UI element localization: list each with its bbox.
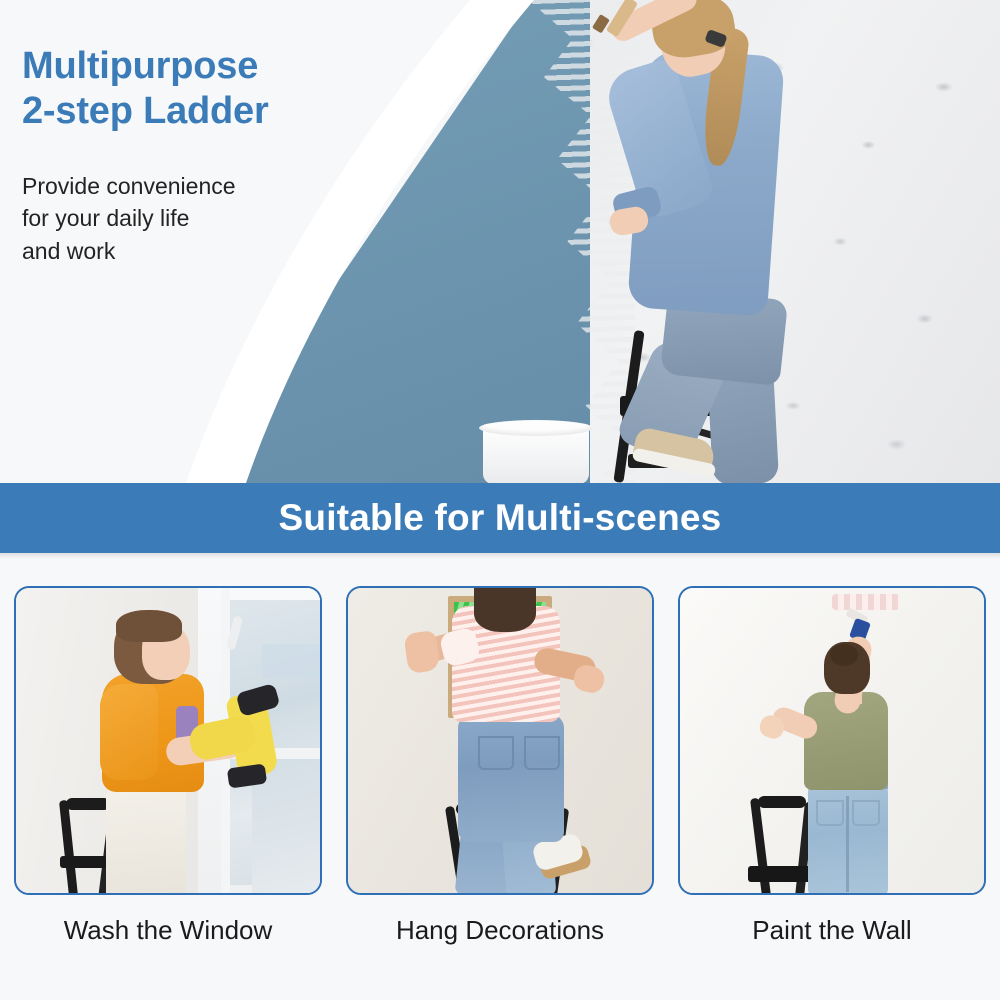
- scene-card-wash-the-window[interactable]: [14, 586, 322, 895]
- scene-captions: Wash the Window Hang Decorations Paint t…: [0, 915, 1000, 975]
- woman-orange-sleeve: [100, 684, 158, 780]
- multi-scenes-banner: Suitable for Multi-scenes: [0, 483, 1000, 553]
- jeans-pocket-right: [852, 800, 880, 826]
- window-sky-view: [262, 644, 322, 678]
- woman-fringe: [116, 610, 182, 642]
- hero-section: Multipurpose 2-step Ladder Provide conve…: [0, 0, 1000, 483]
- scene-cards: [0, 586, 1000, 896]
- woman-white-trousers: [106, 784, 186, 895]
- scene-photo-paint-wall: [680, 588, 984, 893]
- headline-line-1: Multipurpose: [22, 45, 258, 87]
- woman-hair-bun: [830, 644, 858, 666]
- jeans-pocket-left: [816, 800, 844, 826]
- ladder-handle-bar: [758, 796, 806, 808]
- paint-brush-handle: [606, 0, 638, 37]
- subcopy-line-3: and work: [22, 238, 115, 264]
- headline-line-2: 2-step Ladder: [22, 90, 269, 132]
- scene-card-paint-the-wall[interactable]: [678, 586, 986, 895]
- hero-subcopy: Provide convenience for your daily life …: [22, 170, 352, 268]
- ladder-handle-bar: [66, 798, 110, 810]
- paint-bucket-rim: [479, 420, 593, 436]
- jeans-seam: [846, 796, 849, 892]
- subcopy-line-1: Provide convenience: [22, 173, 236, 199]
- caption-wash-the-window: Wash the Window: [14, 915, 322, 946]
- subcopy-line-2: for your daily life: [22, 205, 189, 231]
- scene-photo-hang-decorations: [348, 588, 652, 893]
- caption-hang-decorations: Hang Decorations: [346, 915, 654, 946]
- jeans-pocket-left: [478, 736, 514, 770]
- scene-card-hang-decorations[interactable]: [346, 586, 654, 895]
- woman-hair: [474, 588, 536, 632]
- jeans-pocket-right: [524, 736, 560, 770]
- woman-blue-jeans: [458, 714, 564, 842]
- banner-title: Suitable for Multi-scenes: [279, 497, 722, 539]
- hero-painter-figure: [600, 0, 860, 483]
- caption-paint-the-wall: Paint the Wall: [678, 915, 986, 946]
- banner-drop-shadow: [0, 553, 1000, 559]
- scene-photo-wash-window: [16, 588, 320, 893]
- product-marketing-image: Multipurpose 2-step Ladder Provide conve…: [0, 0, 1000, 1000]
- hero-text-block: Multipurpose 2-step Ladder Provide conve…: [22, 44, 352, 268]
- page-title: Multipurpose 2-step Ladder: [22, 44, 352, 134]
- fresh-paint-stroke: [832, 594, 900, 610]
